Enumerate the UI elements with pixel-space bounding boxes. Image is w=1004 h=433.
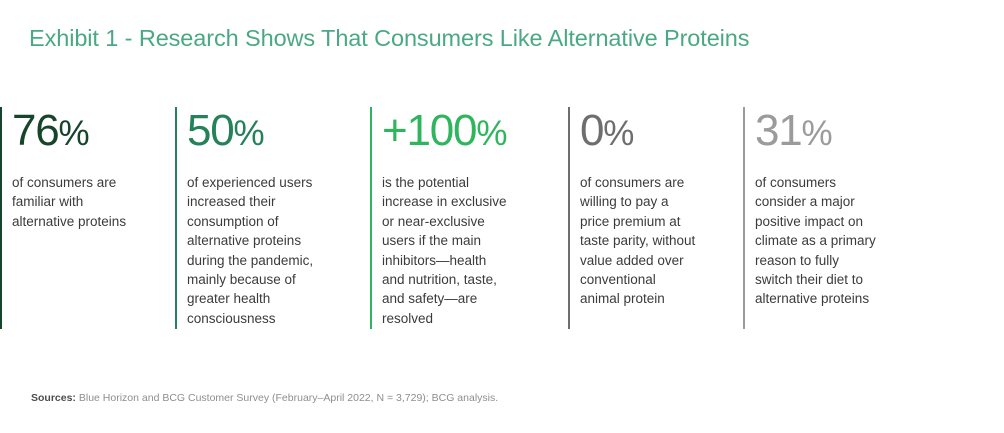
page-title: Exhibit 1 - Research Shows That Consumer… (29, 25, 749, 52)
sources-footnote: Sources: Blue Horizon and BCG Customer S… (31, 391, 498, 405)
stat-percent-sign-1: % (59, 114, 89, 153)
stat-description-2: of experienced users increased their con… (187, 173, 360, 328)
stat-body-2: 50% of experienced users increased their… (177, 107, 360, 329)
stat-body-1: 76% of consumers are familiar with alter… (2, 107, 165, 329)
stat-number-2: 50 (187, 106, 234, 155)
stat-value-2: 50% (187, 109, 360, 153)
stat-percent-sign-4: % (603, 114, 633, 153)
stat-number-1: 76 (12, 106, 59, 155)
stat-number-3: +100 (382, 106, 476, 155)
stat-card-4: 0% of consumers are willing to pay a pri… (568, 107, 743, 329)
stat-value-3: +100% (382, 109, 558, 153)
stat-percent-sign-2: % (234, 114, 264, 153)
stat-body-5: 31% of consumers consider a major positi… (745, 107, 933, 329)
stat-description-5: of consumers consider a major positive i… (755, 173, 933, 309)
stat-percent-sign-5: % (802, 114, 832, 153)
stat-description-1: of consumers are familiar with alternati… (12, 173, 165, 231)
statistics-row: 76% of consumers are familiar with alter… (0, 107, 1004, 329)
stat-description-4: of consumers are willing to pay a price … (580, 173, 733, 309)
stat-value-1: 76% (12, 109, 165, 153)
stat-card-3: +100% is the potential increase in exclu… (370, 107, 568, 329)
stat-percent-sign-3: % (476, 114, 506, 153)
stat-value-4: 0% (580, 109, 733, 153)
stat-value-5: 31% (755, 109, 933, 153)
stat-card-1: 76% of consumers are familiar with alter… (0, 107, 175, 329)
stat-body-4: 0% of consumers are willing to pay a pri… (570, 107, 733, 329)
exhibit-container: Exhibit 1 - Research Shows That Consumer… (0, 0, 1004, 433)
stat-body-3: +100% is the potential increase in exclu… (372, 107, 558, 329)
sources-text: Blue Horizon and BCG Customer Survey (Fe… (76, 392, 498, 404)
stat-number-5: 31 (755, 106, 802, 155)
stat-number-4: 0 (580, 106, 603, 155)
stat-card-2: 50% of experienced users increased their… (175, 107, 370, 329)
sources-label: Sources: (31, 392, 76, 404)
stat-card-5: 31% of consumers consider a major positi… (743, 107, 943, 329)
stat-description-3: is the potential increase in exclusive o… (382, 173, 558, 328)
